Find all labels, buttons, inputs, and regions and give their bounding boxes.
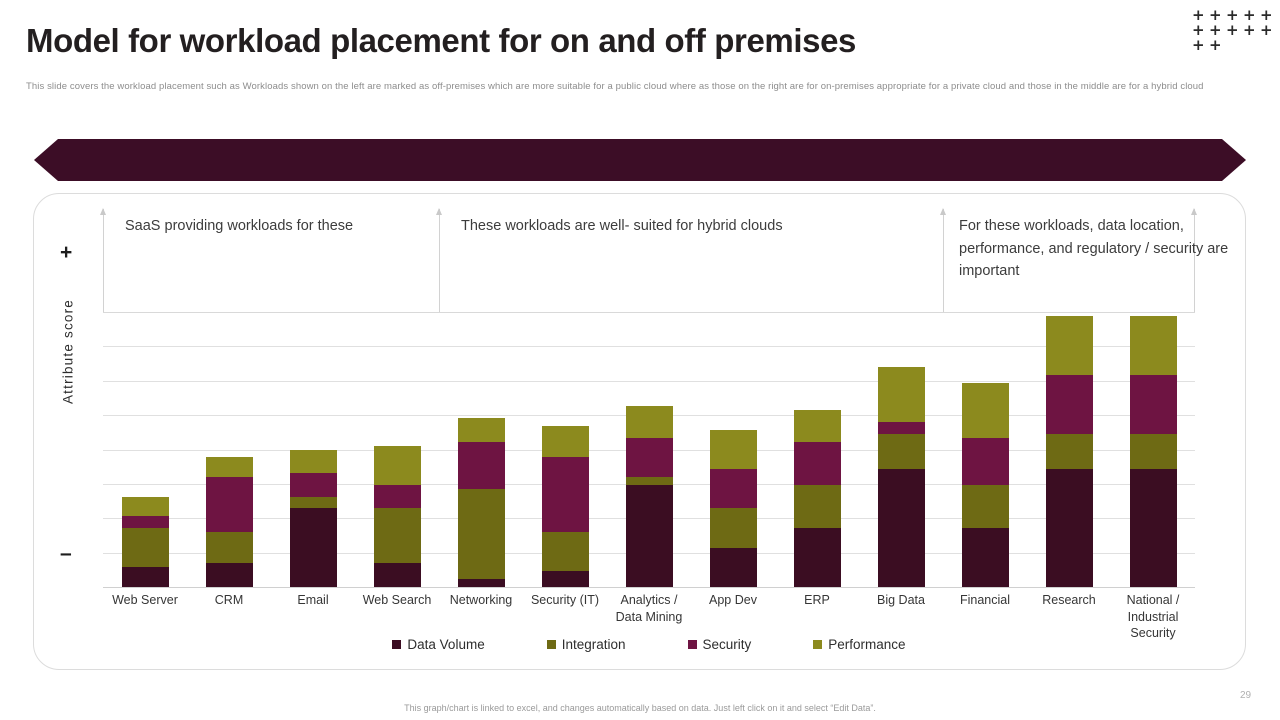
plus-icon: + (1243, 23, 1260, 38)
slide-number: 29 (1240, 690, 1251, 701)
category-label: Analytics / Data Mining (607, 592, 691, 642)
stacked-bar[interactable] (374, 446, 421, 587)
y-axis-bottom-symbol: – (60, 542, 72, 566)
bar-slot (187, 209, 271, 587)
stacked-bar[interactable] (458, 418, 505, 587)
bar-slot (607, 209, 691, 587)
decorative-plus-grid: ++++++++++++ (1192, 8, 1278, 54)
bar-segment-data-volume[interactable] (122, 567, 169, 587)
page-subtitle: This slide covers the workload placement… (26, 80, 1241, 94)
bar-segment-security[interactable] (206, 477, 253, 532)
bar-segment-data-volume[interactable] (374, 563, 421, 587)
bar-segment-security[interactable] (542, 457, 589, 532)
bar-segment-security[interactable] (794, 442, 841, 485)
stacked-bar[interactable] (1046, 316, 1093, 587)
gridline (103, 587, 1195, 588)
bar-segment-performance[interactable] (962, 383, 1009, 438)
legend-item[interactable]: Security (688, 637, 752, 652)
stacked-bar[interactable] (710, 430, 757, 587)
bar-slot (1027, 209, 1111, 587)
stacked-bar-series (103, 209, 1195, 587)
legend-swatch-icon (392, 640, 401, 649)
suitability-banner (34, 139, 1246, 181)
bar-segment-data-volume[interactable] (962, 528, 1009, 587)
bar-segment-integration[interactable] (458, 489, 505, 579)
banner-label-on-premises: More Suitable for On- Premises (812, 0, 1073, 42)
category-label: ERP (775, 592, 859, 642)
stacked-bar[interactable] (962, 383, 1009, 587)
bar-segment-security[interactable] (374, 485, 421, 509)
bar-slot (439, 209, 523, 587)
stacked-bar[interactable] (1130, 316, 1177, 587)
bar-segment-integration[interactable] (1130, 434, 1177, 469)
bar-slot (103, 209, 187, 587)
category-label: Research (1027, 592, 1111, 642)
bar-segment-security[interactable] (1046, 375, 1093, 434)
category-label: CRM (187, 592, 271, 642)
bar-segment-integration[interactable] (1046, 434, 1093, 469)
y-axis-title: Attribute score (61, 282, 76, 422)
bar-segment-performance[interactable] (1130, 316, 1177, 375)
legend-item[interactable]: Data Volume (392, 637, 484, 652)
bar-slot (943, 209, 1027, 587)
bar-segment-performance[interactable] (878, 367, 925, 422)
bar-segment-security[interactable] (626, 438, 673, 477)
bar-segment-data-volume[interactable] (710, 548, 757, 587)
bar-segment-data-volume[interactable] (626, 485, 673, 587)
plus-icon: + (1226, 23, 1243, 38)
bar-segment-performance[interactable] (458, 418, 505, 442)
bar-segment-performance[interactable] (1046, 316, 1093, 375)
bar-segment-data-volume[interactable] (794, 528, 841, 587)
legend-label: Performance (828, 637, 905, 652)
bar-segment-integration[interactable] (962, 485, 1009, 528)
bar-segment-performance[interactable] (542, 426, 589, 457)
bar-segment-data-volume[interactable] (878, 469, 925, 587)
plus-icon: + (1260, 23, 1277, 38)
bar-slot (523, 209, 607, 587)
bar-segment-security[interactable] (878, 422, 925, 434)
bar-segment-data-volume[interactable] (542, 571, 589, 587)
bar-segment-performance[interactable] (374, 446, 421, 485)
legend-label: Integration (562, 637, 626, 652)
bar-slot (775, 209, 859, 587)
bar-slot (271, 209, 355, 587)
stacked-bar[interactable] (290, 450, 337, 587)
banner-label-off-premises: More Suitable for Off- Premises (82, 0, 344, 42)
category-label: Security (IT) (523, 592, 607, 642)
plot-area: SaaS providing workloads for these These… (103, 209, 1195, 587)
bar-segment-integration[interactable] (626, 477, 673, 485)
bar-segment-data-volume[interactable] (206, 563, 253, 587)
bar-segment-data-volume[interactable] (458, 579, 505, 587)
category-axis-labels: Web ServerCRMEmailWeb SearchNetworkingSe… (103, 592, 1195, 642)
stacked-bar[interactable] (794, 410, 841, 587)
category-label: Web Server (103, 592, 187, 642)
category-label: Email (271, 592, 355, 642)
bar-segment-integration[interactable] (290, 497, 337, 509)
bar-segment-performance[interactable] (122, 497, 169, 517)
bar-segment-performance[interactable] (794, 410, 841, 441)
category-label: Financial (943, 592, 1027, 642)
bar-segment-integration[interactable] (878, 434, 925, 469)
bar-segment-data-volume[interactable] (290, 508, 337, 587)
legend-label: Security (703, 637, 752, 652)
bar-slot (859, 209, 943, 587)
bar-segment-integration[interactable] (710, 508, 757, 547)
bar-segment-integration[interactable] (374, 508, 421, 563)
category-label: National / Industrial Security (1111, 592, 1195, 642)
bar-segment-integration[interactable] (122, 528, 169, 567)
plus-icon: + (1209, 38, 1226, 53)
bar-segment-integration[interactable] (542, 532, 589, 571)
category-label: Web Search (355, 592, 439, 642)
stacked-bar[interactable] (542, 426, 589, 587)
bar-segment-performance[interactable] (290, 450, 337, 474)
bar-segment-performance[interactable] (626, 406, 673, 437)
category-label: Networking (439, 592, 523, 642)
legend-label: Data Volume (407, 637, 484, 652)
bar-slot (1111, 209, 1195, 587)
bar-segment-performance[interactable] (206, 457, 253, 477)
legend-swatch-icon (813, 640, 822, 649)
y-axis: + Attribute score – (34, 194, 102, 594)
stacked-bar[interactable] (206, 457, 253, 587)
legend-item[interactable]: Performance (813, 637, 905, 652)
y-axis-top-symbol: + (60, 241, 72, 265)
category-label: Big Data (859, 592, 943, 642)
legend-item[interactable]: Integration (547, 637, 626, 652)
stacked-bar[interactable] (122, 497, 169, 587)
plus-icon: + (1192, 38, 1209, 53)
stacked-bar[interactable] (626, 406, 673, 587)
bar-segment-security[interactable] (458, 442, 505, 489)
bar-segment-integration[interactable] (206, 532, 253, 563)
bar-segment-security[interactable] (290, 473, 337, 497)
legend-swatch-icon (547, 640, 556, 649)
chart-legend: Data VolumeIntegrationSecurityPerformanc… (103, 637, 1195, 652)
footer-note: This graph/chart is linked to excel, and… (0, 703, 1280, 713)
bar-segment-security[interactable] (1130, 375, 1177, 434)
bar-segment-security[interactable] (710, 469, 757, 508)
bar-slot (355, 209, 439, 587)
bar-segment-integration[interactable] (794, 485, 841, 528)
legend-swatch-icon (688, 640, 697, 649)
category-label: App Dev (691, 592, 775, 642)
bar-slot (691, 209, 775, 587)
bar-segment-security[interactable] (122, 516, 169, 528)
bar-segment-performance[interactable] (710, 430, 757, 469)
bar-segment-security[interactable] (962, 438, 1009, 485)
bar-segment-data-volume[interactable] (1130, 469, 1177, 587)
chart-card: + Attribute score – SaaS providing workl… (33, 193, 1246, 670)
bar-segment-data-volume[interactable] (1046, 469, 1093, 587)
stacked-bar[interactable] (878, 367, 925, 587)
